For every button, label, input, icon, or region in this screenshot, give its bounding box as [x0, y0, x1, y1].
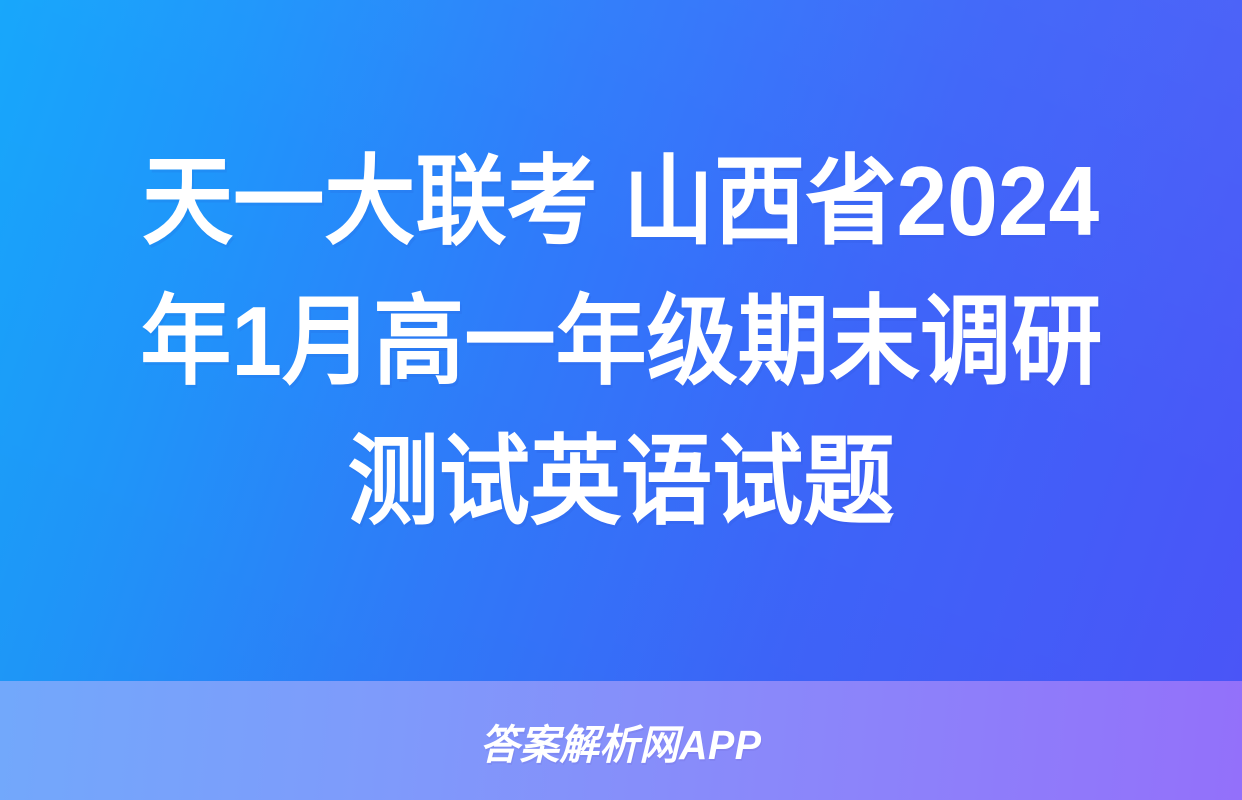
title-line-2: 年1月高一年级期末调研: [140, 271, 1102, 411]
app-watermark-label: 答案解析网APP: [480, 711, 762, 771]
hero-gradient-panel: 天一大联考 山西省2024 年1月高一年级期末调研 测试英语试题: [0, 0, 1242, 681]
footer-band: 答案解析网APP: [0, 681, 1242, 800]
exam-title-card: 天一大联考 山西省2024 年1月高一年级期末调研 测试英语试题 答案解析网AP…: [0, 0, 1242, 800]
exam-title-block: 天一大联考 山西省2024 年1月高一年级期末调研 测试英语试题: [0, 0, 1242, 681]
title-line-3: 测试英语试题: [348, 411, 895, 551]
title-line-1: 天一大联考 山西省2024: [142, 131, 1099, 271]
